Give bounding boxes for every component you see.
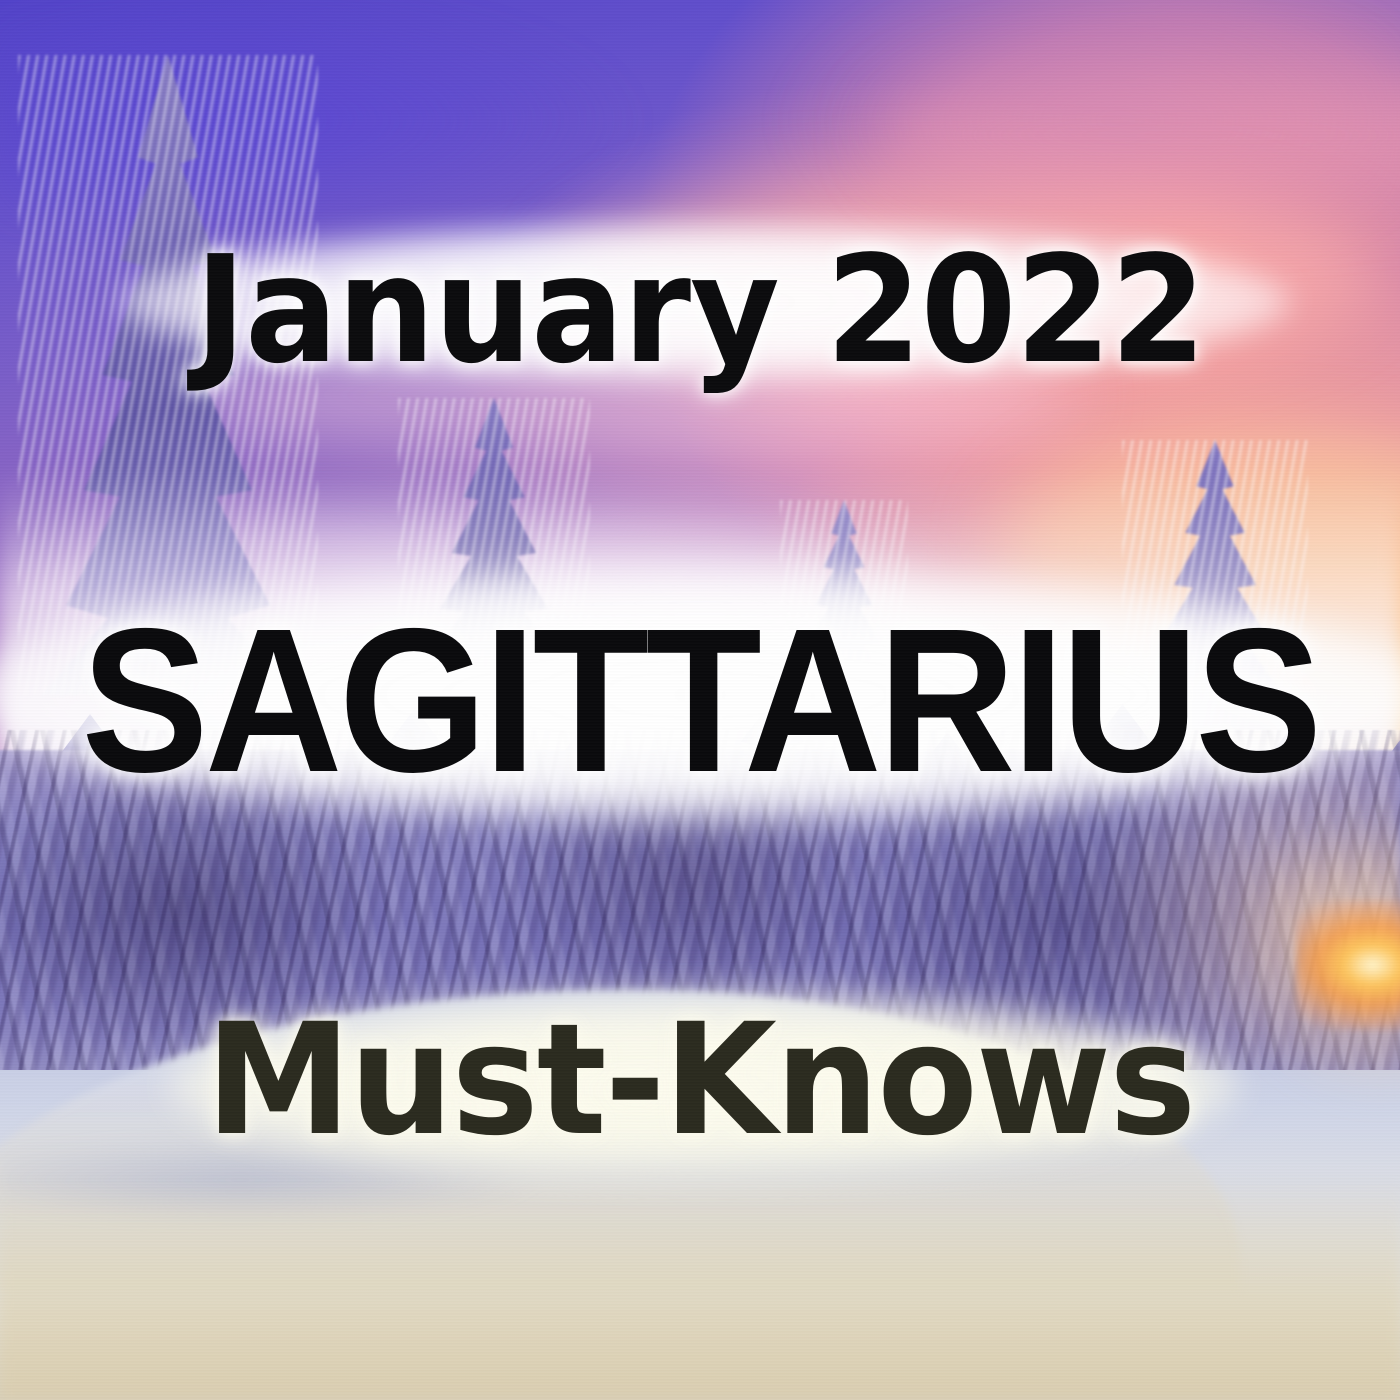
date-text: January 2022 bbox=[49, 236, 1351, 384]
thumbnail-canvas: January 2022 SAGITTARIUS Must-Knows bbox=[0, 0, 1400, 1400]
snow-warm-tint bbox=[0, 1180, 1400, 1400]
zodiac-sign-text: SAGITTARIUS bbox=[49, 598, 1351, 803]
subtitle-text: Must-Knows bbox=[35, 1004, 1365, 1158]
